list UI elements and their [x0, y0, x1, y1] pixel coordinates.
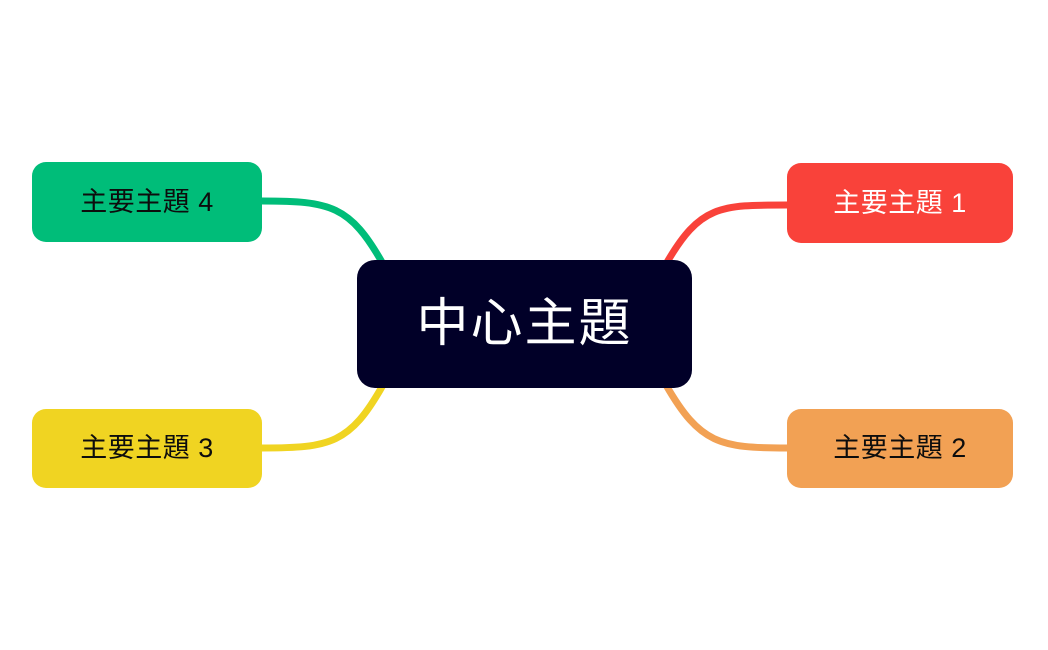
node-central-topic[interactable]: 中心主題	[357, 260, 692, 388]
connector-topic-2	[666, 385, 787, 448]
connector-topic-3	[262, 385, 383, 448]
connector-topic-4	[262, 201, 383, 264]
mind-map-canvas: 主要主題 4 主要主題 1 中心主題 主要主題 3 主要主題 2	[0, 0, 1048, 650]
node-main-topic-3-label: 主要主題 3	[80, 435, 214, 462]
node-main-topic-4[interactable]: 主要主題 4	[32, 162, 262, 242]
node-main-topic-2-label: 主要主題 2	[833, 435, 967, 462]
node-main-topic-4-label: 主要主題 4	[80, 189, 214, 216]
node-central-topic-label: 中心主題	[416, 298, 632, 350]
connector-topic-1	[666, 205, 787, 264]
node-main-topic-3[interactable]: 主要主題 3	[32, 409, 262, 488]
node-main-topic-2[interactable]: 主要主題 2	[787, 409, 1013, 488]
node-main-topic-1[interactable]: 主要主題 1	[787, 163, 1013, 243]
node-main-topic-1-label: 主要主題 1	[833, 190, 967, 217]
